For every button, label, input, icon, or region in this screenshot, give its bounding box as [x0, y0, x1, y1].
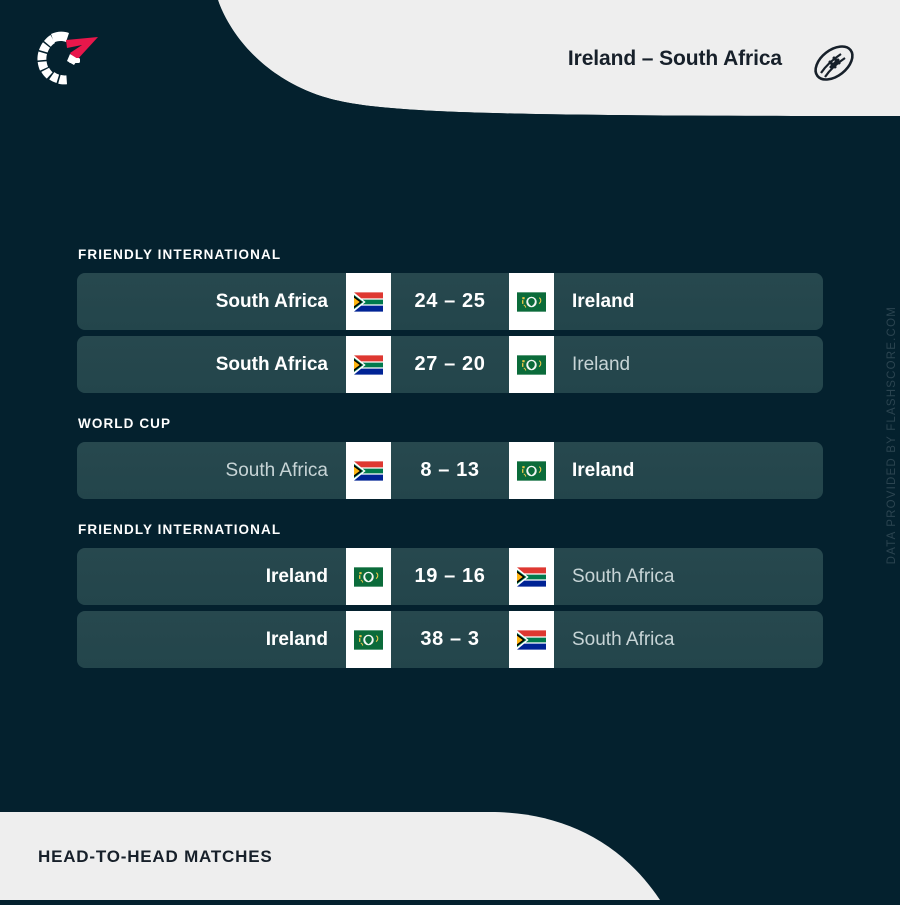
home-team-name: South Africa	[77, 442, 346, 499]
ireland-rugby-flag	[517, 355, 546, 375]
home-team-name: Ireland	[77, 611, 346, 668]
home-team-flag-cell	[346, 336, 391, 393]
away-team-name: Ireland	[554, 442, 823, 499]
match-score: 24 – 25	[391, 273, 509, 330]
away-team-flag-cell	[509, 442, 554, 499]
away-team-name: South Africa	[554, 611, 823, 668]
match-score: 8 – 13	[391, 442, 509, 499]
match-score: 38 – 3	[391, 611, 509, 668]
table-row[interactable]: South Africa 24 – 25	[77, 273, 823, 330]
south-africa-flag	[517, 630, 546, 650]
page-title: Ireland – South Africa	[568, 0, 782, 118]
flashscore-attribution: DATA PROVIDED BY FLASHSCORE.COM	[886, 306, 898, 564]
away-team-flag-cell	[509, 548, 554, 605]
head-to-head-list: FRIENDLY INTERNATIONAL South Africa 24 –…	[77, 247, 823, 674]
section-label-friendly-2: FRIENDLY INTERNATIONAL	[78, 522, 823, 537]
section-label-friendly-1: FRIENDLY INTERNATIONAL	[78, 247, 823, 262]
south-africa-flag	[354, 292, 383, 312]
ireland-rugby-flag	[517, 461, 546, 481]
home-team-name: South Africa	[77, 336, 346, 393]
table-row[interactable]: Ireland 38 – 3	[77, 611, 823, 668]
away-team-name: South Africa	[554, 548, 823, 605]
home-team-flag-cell	[346, 442, 391, 499]
home-team-name: South Africa	[77, 273, 346, 330]
table-row[interactable]: Ireland 19 – 16	[77, 548, 823, 605]
ireland-rugby-flag	[517, 292, 546, 312]
ireland-rugby-flag	[354, 630, 383, 650]
away-team-name: Ireland	[554, 273, 823, 330]
match-score: 27 – 20	[391, 336, 509, 393]
away-team-flag-cell	[509, 611, 554, 668]
table-row[interactable]: South Africa 27 – 20	[77, 336, 823, 393]
home-team-flag-cell	[346, 611, 391, 668]
match-score: 19 – 16	[391, 548, 509, 605]
section-label-world-cup: WORLD CUP	[78, 416, 823, 431]
header-bar: Ireland – South Africa	[0, 0, 900, 122]
footer-background-shape	[0, 790, 900, 900]
away-team-name: Ireland	[554, 336, 823, 393]
flashscore-logo-icon[interactable]	[30, 28, 98, 90]
south-africa-flag	[354, 461, 383, 481]
table-row[interactable]: South Africa 8 – 13	[77, 442, 823, 499]
footer-title: HEAD-TO-HEAD MATCHES	[38, 847, 272, 867]
south-africa-flag	[517, 567, 546, 587]
south-africa-flag	[354, 355, 383, 375]
main-content: FRIENDLY INTERNATIONAL South Africa 24 –…	[0, 122, 900, 812]
home-team-name: Ireland	[77, 548, 346, 605]
ireland-rugby-flag	[354, 567, 383, 587]
footer-bar: HEAD-TO-HEAD MATCHES	[0, 790, 900, 900]
away-team-flag-cell	[509, 336, 554, 393]
rugby-ball-icon	[808, 40, 860, 86]
home-team-flag-cell	[346, 548, 391, 605]
home-team-flag-cell	[346, 273, 391, 330]
away-team-flag-cell	[509, 273, 554, 330]
